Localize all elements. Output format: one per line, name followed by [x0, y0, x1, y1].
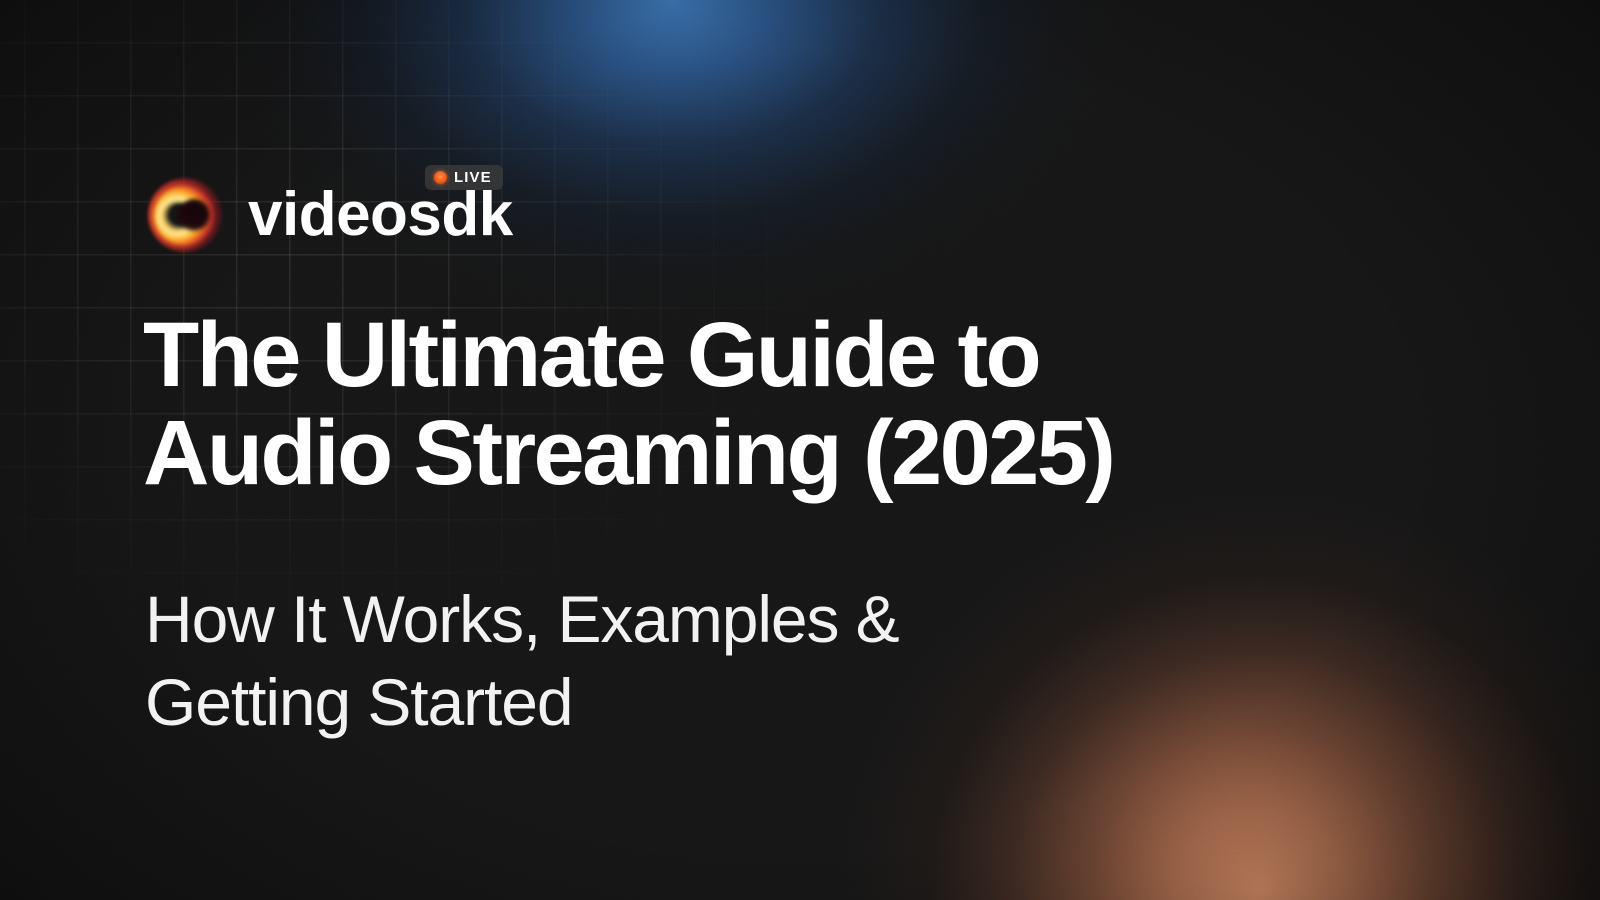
live-record-dot-icon [434, 171, 447, 184]
page-subtitle-line-1: How It Works, Examples & [145, 578, 1345, 661]
brand-logo[interactable]: videosdk LIVE [148, 178, 513, 252]
live-badge: LIVE [425, 165, 503, 190]
brand-wordmark: videosdk [248, 184, 513, 246]
eclipse-ring-icon [148, 178, 222, 252]
page-title: The Ultimate Guide to Audio Streaming (2… [143, 307, 1563, 502]
hero-content: videosdk LIVE The Ultimate Guide to Audi… [148, 0, 1568, 900]
page-title-line-2: Audio Streaming (2025) [143, 405, 1563, 503]
page-title-line-1: The Ultimate Guide to [143, 307, 1563, 405]
hero-banner: videosdk LIVE The Ultimate Guide to Audi… [0, 0, 1600, 900]
page-subtitle: How It Works, Examples & Getting Started [145, 578, 1345, 743]
live-badge-label: LIVE [454, 170, 492, 185]
page-subtitle-line-2: Getting Started [145, 661, 1345, 744]
